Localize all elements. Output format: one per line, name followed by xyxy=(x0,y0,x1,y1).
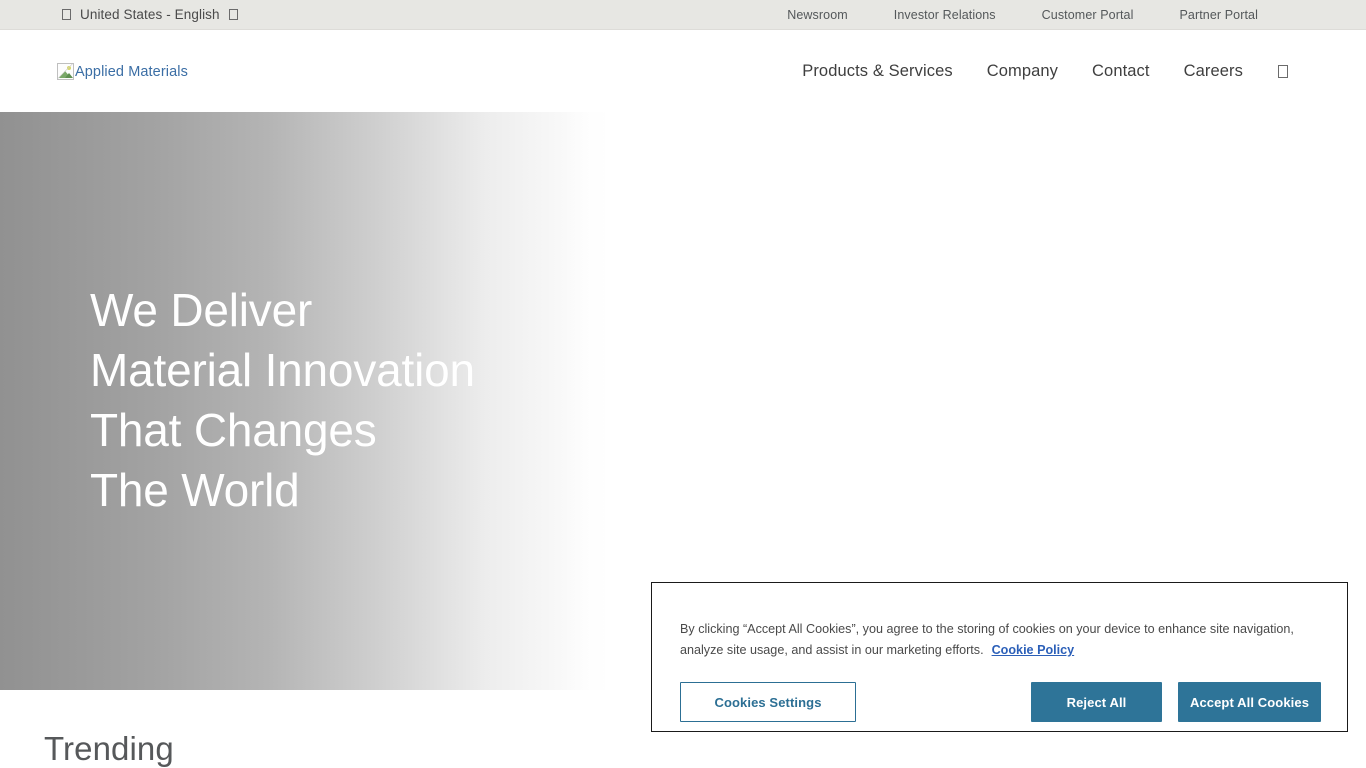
accept-all-cookies-button[interactable]: Accept All Cookies xyxy=(1178,682,1321,722)
locale-label: United States - English xyxy=(80,7,220,22)
search-button[interactable] xyxy=(1260,65,1288,78)
site-header: Applied Materials Products & Services Co… xyxy=(0,31,1366,112)
trending-title: Trending xyxy=(44,730,174,768)
locale-selector[interactable]: United States - English xyxy=(62,7,238,22)
utility-link-newsroom[interactable]: Newsroom xyxy=(764,8,871,22)
broken-image-icon xyxy=(57,63,74,80)
utility-top-bar: United States - English Newsroom Investo… xyxy=(0,0,1366,30)
chevron-down-icon xyxy=(229,9,238,20)
logo-link[interactable]: Applied Materials xyxy=(57,63,188,80)
utility-link-partner-portal[interactable]: Partner Portal xyxy=(1156,8,1306,22)
cookie-banner-body: By clicking “Accept All Cookies”, you ag… xyxy=(680,622,1294,657)
cookie-banner-text: By clicking “Accept All Cookies”, you ag… xyxy=(680,619,1320,661)
cookie-consent-banner: By clicking “Accept All Cookies”, you ag… xyxy=(651,582,1348,732)
nav-item-contact[interactable]: Contact xyxy=(1075,62,1167,81)
utility-links: Newsroom Investor Relations Customer Por… xyxy=(764,8,1306,22)
utility-link-customer-portal[interactable]: Customer Portal xyxy=(1019,8,1157,22)
utility-link-investor-relations[interactable]: Investor Relations xyxy=(871,8,1019,22)
cookie-policy-link[interactable]: Cookie Policy xyxy=(992,643,1075,657)
cookie-banner-actions: Cookies Settings Reject All Accept All C… xyxy=(652,682,1349,726)
page-root: United States - English Newsroom Investo… xyxy=(0,0,1366,768)
nav-item-company[interactable]: Company xyxy=(970,62,1075,81)
reject-all-button[interactable]: Reject All xyxy=(1031,682,1162,722)
globe-icon xyxy=(62,9,71,20)
search-icon xyxy=(1278,65,1288,78)
cookies-settings-button[interactable]: Cookies Settings xyxy=(680,682,856,722)
nav-item-products-services[interactable]: Products & Services xyxy=(785,62,969,81)
hero-headline: We Deliver Material Innovation That Chan… xyxy=(90,280,475,520)
logo-alt-text: Applied Materials xyxy=(75,64,188,80)
main-navigation: Products & Services Company Contact Care… xyxy=(785,62,1288,81)
nav-item-careers[interactable]: Careers xyxy=(1167,62,1260,81)
